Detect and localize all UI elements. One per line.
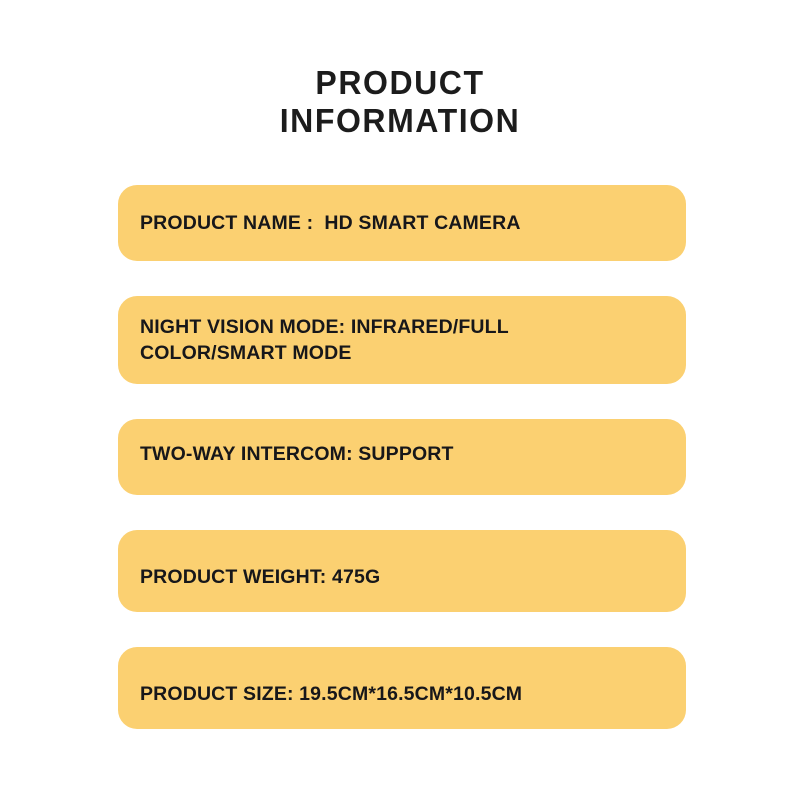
spec-row-night-vision-mode: NIGHT VISION MODE: INFRARED/FULL COLOR/S… [118,296,686,384]
spec-row-product-size: PRODUCT SIZE: 19.5CM*16.5CM*10.5CM [118,647,686,729]
spec-row-product-weight: PRODUCT WEIGHT: 475G [118,530,686,612]
page-title: PRODUCT INFORMATION [12,64,788,140]
spec-row-two-way-intercom: TWO-WAY INTERCOM: SUPPORT [118,419,686,495]
spec-row-text: NIGHT VISION MODE: INFRARED/FULL COLOR/S… [118,314,527,366]
product-information-page: PRODUCT INFORMATION PRODUCT NAME : HD SM… [0,0,800,800]
spec-row-text: PRODUCT WEIGHT: 475G [118,564,398,590]
spec-list: PRODUCT NAME : HD SMART CAMERA NIGHT VIS… [118,185,686,729]
spec-row-product-name: PRODUCT NAME : HD SMART CAMERA [118,185,686,261]
spec-row-text: PRODUCT NAME : HD SMART CAMERA [118,210,539,236]
page-title-line-1: PRODUCT [12,64,788,102]
spec-row-text: PRODUCT SIZE: 19.5CM*16.5CM*10.5CM [118,681,540,707]
spec-row-text: TWO-WAY INTERCOM: SUPPORT [118,441,472,467]
page-title-line-2: INFORMATION [12,102,788,140]
